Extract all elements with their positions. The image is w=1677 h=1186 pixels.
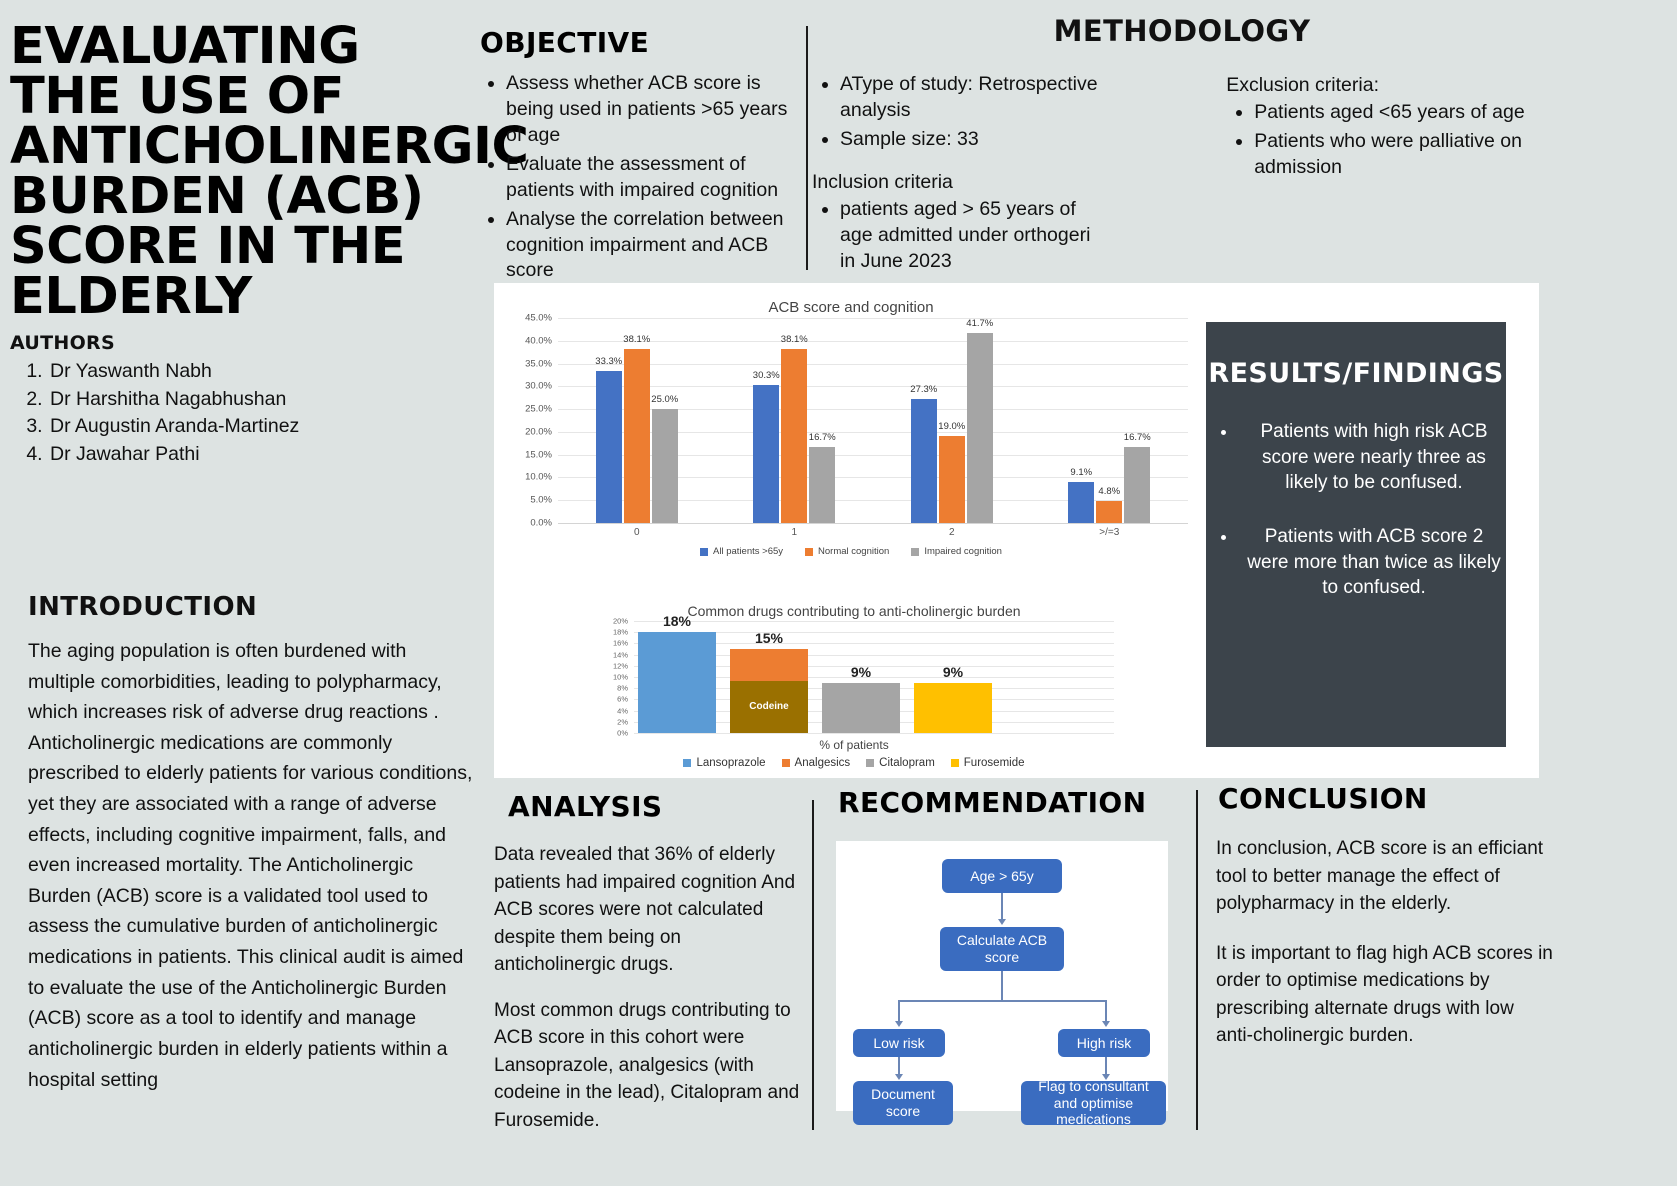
legend-label: Citalopram [879, 757, 935, 769]
chart1-y-tick: 15.0% [508, 449, 552, 460]
chart1-bar: 16.7% [1124, 447, 1150, 523]
legend-label: Analgesics [795, 757, 851, 769]
flow-arrow-icon [1102, 1021, 1110, 1027]
results-heading: RESULTS/FINDINGS [1206, 358, 1506, 389]
list-item: Analyse the correlation between cognitio… [506, 207, 808, 285]
flow-node-flag-consultant: Flag to consultant and optimise medicati… [1021, 1081, 1166, 1125]
conclusion-paragraph: In conclusion, ACB score is an efficiant… [1216, 835, 1556, 918]
list-item: Patients aged <65 years of age [1254, 100, 1552, 126]
conclusion-section: CONCLUSION In conclusion, ACB score is a… [1216, 782, 1556, 1072]
introduction-heading: INTRODUCTION [28, 592, 476, 622]
conclusion-heading: CONCLUSION [1218, 782, 1556, 815]
legend-swatch [700, 548, 708, 556]
authors-heading: AUTHORS [10, 332, 498, 354]
list-item: Dr Harshitha Nagabhushan [48, 386, 498, 414]
list-item: AType of study: Retrospective analysis [840, 72, 1108, 124]
methodology-heading: METHODOLOGY [812, 14, 1552, 48]
chart1-legend-item: Normal cognition [805, 546, 889, 557]
chart2-y-tick: 8% [596, 684, 628, 693]
chart1-bar: 19.0% [939, 436, 965, 523]
chart2-bar: 18% [638, 632, 716, 733]
objective-list: Assess whether ACB score is being used i… [478, 71, 808, 284]
flow-node-start: Age > 65y [942, 859, 1062, 893]
introduction-section: INTRODUCTION The aging population is oft… [28, 592, 476, 1095]
legend-label: Lansoprazole [696, 757, 765, 769]
chart1-bar-label: 27.3% [910, 384, 937, 395]
legend-label: Normal cognition [818, 546, 889, 557]
chart1-group: 9.1%4.8%16.7% [1031, 318, 1189, 523]
recommendation-heading: RECOMMENDATION [838, 786, 1186, 819]
chart1-bar: 16.7% [809, 447, 835, 523]
analysis-paragraph: Data revealed that 36% of elderly patien… [494, 841, 804, 979]
flow-node-calculate: Calculate ACB score [940, 927, 1064, 971]
chart1-group: 30.3%38.1%16.7% [716, 318, 874, 523]
chart2-y-tick: 16% [596, 639, 628, 648]
chart2-bar-label: 9% [851, 664, 871, 680]
flow-arrow-icon [895, 1021, 903, 1027]
methodology-section: METHODOLOGY AType of study: Retrospectiv… [812, 14, 1552, 278]
list-item: Dr Augustin Aranda-Martinez [48, 413, 498, 441]
objective-section: OBJECTIVE Assess whether ACB score is be… [478, 26, 808, 287]
chart1-y-tick: 30.0% [508, 381, 552, 392]
chart1-bar-label: 25.0% [651, 394, 678, 405]
authors-list: Dr Yaswanth Nabh Dr Harshitha Nagabhusha… [8, 358, 498, 469]
chart1-x-tick: >/=3 [1031, 524, 1189, 542]
list-item: Dr Yaswanth Nabh [48, 358, 498, 386]
list-item: Sample size: 33 [840, 127, 1108, 153]
inclusion-criteria-label: Inclusion criteria [812, 169, 1108, 195]
chart1-legend: All patients >65yNormal cognitionImpaire… [506, 546, 1196, 557]
introduction-body: The aging population is often burdened w… [28, 636, 476, 1095]
divider-recommendation-conclusion [1196, 790, 1198, 1130]
list-item: Patients with high risk ACB score were n… [1238, 419, 1506, 496]
chart2-y-tick: 6% [596, 695, 628, 704]
chart1-legend-item: Impaired cognition [911, 546, 1002, 557]
chart1-bar: 9.1% [1068, 482, 1094, 523]
acb-cognition-chart: ACB score and cognition 45.0%40.0%35.0%3… [506, 291, 1196, 581]
analysis-section: ANALYSIS Data revealed that 36% of elder… [494, 790, 804, 1152]
recommendation-flowchart: Age > 65y Calculate ACB score Low risk H… [836, 841, 1168, 1111]
chart1-bar-label: 38.1% [781, 334, 808, 345]
chart2-y-tick: 0% [596, 729, 628, 738]
chart1-bar-label: 33.3% [595, 356, 622, 367]
conclusion-paragraph: It is important to flag high ACB scores … [1216, 940, 1556, 1050]
chart1-bar-label: 9.1% [1070, 467, 1092, 478]
chart2-segment-label: Codeine [749, 701, 788, 712]
flow-arrow-icon [998, 919, 1006, 925]
chart2-bar-label: 15% [755, 630, 783, 646]
analysis-paragraph: Most common drugs contributing to ACB sc… [494, 997, 804, 1135]
chart1-bar-label: 19.0% [938, 421, 965, 432]
chart1-y-tick: 25.0% [508, 404, 552, 415]
chart1-bar: 33.3% [596, 371, 622, 523]
results-list: Patients with high risk ACB score were n… [1206, 419, 1506, 601]
chart1-y-tick: 40.0% [508, 335, 552, 346]
chart2-y-tick: 4% [596, 706, 628, 715]
chart2-legend: LansoprazoleAnalgesicsCitalopramFurosemi… [594, 757, 1114, 769]
chart1-x-tick: 0 [558, 524, 716, 542]
chart1-bar: 25.0% [652, 409, 678, 523]
chart1-bar-label: 38.1% [623, 334, 650, 345]
chart1-bar: 38.1% [624, 349, 650, 523]
chart1-bar-label: 16.7% [1124, 432, 1151, 443]
chart2-plot: 20%18%16%14%12%10%8%6%4%2%0%18%15%Codein… [634, 621, 1114, 733]
divider-objective-methodology [806, 26, 808, 270]
divider-analysis-recommendation [812, 800, 814, 1130]
flow-arrow-icon [895, 1074, 903, 1080]
chart2-y-tick: 14% [596, 650, 628, 659]
legend-label: Furosemide [964, 757, 1025, 769]
poster-root: EVALUATING THE USE OF ANTICHOLINERGIC BU… [0, 0, 1677, 1186]
legend-swatch [683, 759, 691, 767]
chart2-legend-item: Analgesics [782, 757, 851, 769]
legend-swatch [805, 548, 813, 556]
chart1-bar-groups: 33.3%38.1%25.0%30.3%38.1%16.7%27.3%19.0%… [558, 318, 1188, 523]
chart2-y-tick: 18% [596, 628, 628, 637]
results-findings-panel: RESULTS/FINDINGS Patients with high risk… [1206, 322, 1506, 747]
chart1-y-tick: 10.0% [508, 472, 552, 483]
chart2-codeine-segment: Codeine [730, 681, 808, 733]
chart2-y-tick: 12% [596, 661, 628, 670]
chart2-bar: 9% [822, 683, 900, 733]
inclusion-criteria-list: patients aged > 65 years of age admitted… [812, 197, 1108, 275]
chart2-bar: 9% [914, 683, 992, 733]
legend-swatch [911, 548, 919, 556]
flow-node-high-risk: High risk [1058, 1029, 1150, 1057]
exclusion-criteria-label: Exclusion criteria: [1226, 72, 1552, 98]
chart1-y-tick: 35.0% [508, 358, 552, 369]
list-item: Assess whether ACB score is being used i… [506, 71, 808, 149]
chart1-x-tick: 2 [873, 524, 1031, 542]
page-title: EVALUATING THE USE OF ANTICHOLINERGIC BU… [10, 22, 480, 322]
chart1-bar-label: 4.8% [1098, 486, 1120, 497]
chart2-legend-item: Citalopram [866, 757, 935, 769]
chart2-y-tick: 10% [596, 673, 628, 682]
chart1-y-tick: 20.0% [508, 426, 552, 437]
chart1-group: 33.3%38.1%25.0% [558, 318, 716, 523]
legend-label: All patients >65y [713, 546, 783, 557]
objective-heading: OBJECTIVE [480, 26, 808, 59]
list-item: Evaluate the assessment of patients with… [506, 152, 808, 204]
chart2-bar-label: 18% [663, 613, 691, 629]
recommendation-section: RECOMMENDATION Age > 65y Calculate ACB s… [836, 786, 1186, 1111]
flow-node-document-score: Document score [853, 1081, 953, 1125]
list-item: patients aged > 65 years of age admitted… [840, 197, 1108, 275]
common-drugs-chart: Common drugs contributing to anti-cholin… [594, 595, 1114, 773]
chart1-y-tick: 45.0% [508, 313, 552, 324]
flow-node-low-risk: Low risk [853, 1029, 945, 1057]
chart2-bars: 18%15%Codeine9%9% [634, 621, 1114, 733]
legend-swatch [866, 759, 874, 767]
legend-swatch [782, 759, 790, 767]
chart2-gridline [634, 733, 1114, 734]
list-item: Patients with ACB score 2 were more than… [1238, 524, 1506, 601]
analysis-heading: ANALYSIS [508, 790, 804, 823]
list-item: Patients who were palliative on admissio… [1254, 129, 1552, 181]
chart1-x-tick: 1 [716, 524, 874, 542]
chart2-legend-item: Furosemide [951, 757, 1025, 769]
chart1-y-tick: 5.0% [508, 495, 552, 506]
chart1-bar: 27.3% [911, 399, 937, 523]
title-block: EVALUATING THE USE OF ANTICHOLINERGIC BU… [8, 22, 498, 469]
chart1-y-tick: 0.0% [508, 518, 552, 529]
methodology-left-column: AType of study: Retrospective analysis S… [812, 72, 1108, 278]
chart1-group: 27.3%19.0%41.7% [873, 318, 1031, 523]
chart2-legend-item: Lansoprazole [683, 757, 765, 769]
flow-connector [1001, 971, 1003, 1001]
exclusion-criteria-list: Patients aged <65 years of age Patients … [1226, 100, 1552, 181]
chart1-bar: 4.8% [1096, 501, 1122, 523]
chart1-title: ACB score and cognition [506, 299, 1196, 316]
chart1-legend-item: All patients >65y [700, 546, 783, 557]
chart1-bar: 30.3% [753, 385, 779, 523]
chart1-plot: 45.0%40.0%35.0%30.0%25.0%20.0%15.0%10.0%… [558, 318, 1188, 523]
chart2-bar: 15%Codeine [730, 649, 808, 733]
chart1-bar: 38.1% [781, 349, 807, 523]
flow-connector [898, 1000, 1106, 1002]
methodology-list: AType of study: Retrospective analysis S… [812, 72, 1108, 153]
chart1-bar-label: 41.7% [966, 318, 993, 329]
chart2-x-label: % of patients [594, 738, 1114, 752]
legend-label: Impaired cognition [924, 546, 1002, 557]
methodology-right-column: Exclusion criteria: Patients aged <65 ye… [1136, 72, 1552, 278]
chart1-bar: 41.7% [967, 333, 993, 523]
chart2-y-tick: 2% [596, 717, 628, 726]
chart2-y-tick: 20% [596, 617, 628, 626]
chart1-bar-label: 16.7% [809, 432, 836, 443]
list-item: Dr Jawahar Pathi [48, 441, 498, 469]
chart1-bar-label: 30.3% [753, 370, 780, 381]
chart1-x-axis: 012>/=3 [558, 523, 1188, 542]
chart2-bar-label: 9% [943, 664, 963, 680]
legend-swatch [951, 759, 959, 767]
